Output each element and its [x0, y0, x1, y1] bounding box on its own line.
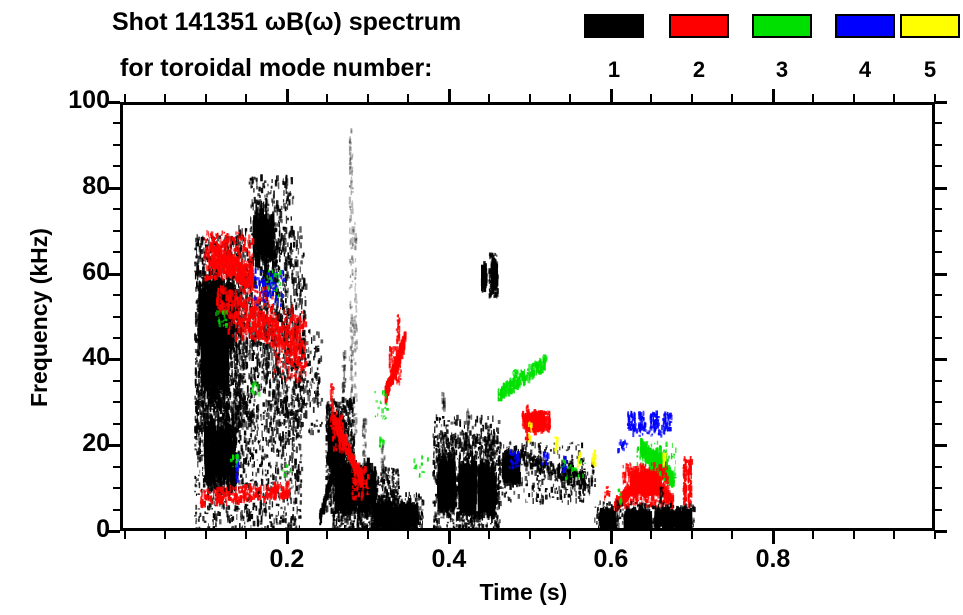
x-major-tick-0.2: [286, 531, 289, 544]
legend-swatch-1: [584, 14, 644, 38]
x-major-tick-0.4: [448, 531, 451, 544]
y-minor-tick: [113, 487, 120, 489]
x-minor-tick: [812, 531, 814, 539]
legend-label-4: 4: [835, 57, 895, 83]
legend-label-5: 5: [900, 57, 960, 83]
x-minor-tick-top: [245, 94, 247, 102]
y-minor-tick-right: [935, 230, 942, 232]
y-major-tick-right-80: [935, 187, 947, 190]
y-minor-tick-right: [935, 487, 942, 489]
y-minor-tick-right: [935, 294, 942, 296]
x-major-tick-top-0.8: [772, 89, 775, 102]
y-minor-tick-right: [935, 337, 942, 339]
y-tick-label-80: 80: [48, 172, 110, 201]
y-minor-tick-right: [935, 509, 942, 511]
x-tick-label-0.2: 0.2: [247, 545, 327, 574]
y-minor-tick: [113, 337, 120, 339]
x-minor-tick: [934, 531, 936, 539]
legend-label-2: 2: [669, 57, 729, 83]
y-tick-label-60: 60: [48, 258, 110, 287]
y-minor-tick-right: [935, 423, 942, 425]
y-minor-tick-right: [935, 165, 942, 167]
x-minor-tick: [245, 531, 247, 539]
x-minor-tick: [326, 531, 328, 539]
x-minor-tick-top: [853, 94, 855, 102]
y-minor-tick: [113, 144, 120, 146]
y-minor-tick-right: [935, 251, 942, 253]
y-minor-tick: [113, 165, 120, 167]
y-minor-tick-right: [935, 401, 942, 403]
x-minor-tick-top: [407, 94, 409, 102]
y-minor-tick-right: [935, 144, 942, 146]
x-minor-tick-top: [569, 94, 571, 102]
x-minor-tick: [893, 531, 895, 539]
y-minor-tick: [113, 251, 120, 253]
y-tick-label-0: 0: [48, 515, 110, 544]
legend-label-3: 3: [752, 57, 812, 83]
x-minor-tick: [731, 531, 733, 539]
y-minor-tick-right: [935, 122, 942, 124]
x-minor-tick-top: [934, 94, 936, 102]
x-minor-tick-top: [367, 94, 369, 102]
y-minor-tick: [113, 401, 120, 403]
y-minor-tick-right: [935, 208, 942, 210]
x-major-tick-top-0.4: [448, 89, 451, 102]
x-minor-tick-top: [326, 94, 328, 102]
x-major-tick-0.8: [772, 531, 775, 544]
x-minor-tick: [853, 531, 855, 539]
plot-area: [120, 102, 935, 531]
y-axis-title: Frequency (kHz): [26, 228, 53, 407]
y-major-tick-right-60: [935, 273, 947, 276]
x-major-tick-0.6: [610, 531, 613, 544]
legend-swatch-2: [669, 14, 729, 38]
x-minor-tick: [529, 531, 531, 539]
x-minor-tick: [205, 531, 207, 539]
y-minor-tick: [113, 230, 120, 232]
x-minor-tick-top: [893, 94, 895, 102]
y-major-tick-right-20: [935, 444, 947, 447]
x-minor-tick-top: [205, 94, 207, 102]
x-minor-tick: [407, 531, 409, 539]
x-minor-tick-top: [488, 94, 490, 102]
y-minor-tick: [113, 509, 120, 511]
y-minor-tick-right: [935, 380, 942, 382]
title-line-2: for toroidal mode number:: [120, 54, 433, 83]
x-minor-tick: [124, 531, 126, 539]
x-minor-tick-top: [529, 94, 531, 102]
x-minor-tick-top: [691, 94, 693, 102]
x-minor-tick: [164, 531, 166, 539]
x-tick-label-0.6: 0.6: [571, 545, 651, 574]
x-minor-tick: [569, 531, 571, 539]
x-minor-tick-top: [124, 94, 126, 102]
x-major-tick-top-0.2: [286, 89, 289, 102]
y-tick-label-20: 20: [48, 429, 110, 458]
y-major-tick-right-40: [935, 358, 947, 361]
y-minor-tick: [113, 208, 120, 210]
y-minor-tick: [113, 122, 120, 124]
legend-label-1: 1: [584, 57, 644, 83]
legend-swatch-5: [900, 14, 960, 38]
x-tick-label-0.8: 0.8: [733, 545, 813, 574]
y-major-tick-right-100: [935, 101, 947, 104]
y-minor-tick-right: [935, 316, 942, 318]
legend-swatch-4: [835, 14, 895, 38]
x-minor-tick: [367, 531, 369, 539]
x-minor-tick-top: [164, 94, 166, 102]
y-minor-tick: [113, 316, 120, 318]
title-line-1: Shot 141351 ωB(ω) spectrum: [112, 8, 461, 37]
y-tick-label-100: 100: [48, 86, 110, 115]
x-major-tick-top-0.6: [610, 89, 613, 102]
y-minor-tick: [113, 294, 120, 296]
x-axis-title: Time (s): [480, 579, 568, 606]
x-minor-tick: [488, 531, 490, 539]
y-minor-tick-right: [935, 466, 942, 468]
x-minor-tick-top: [731, 94, 733, 102]
y-minor-tick: [113, 466, 120, 468]
y-minor-tick: [113, 380, 120, 382]
y-minor-tick: [113, 423, 120, 425]
x-minor-tick: [650, 531, 652, 539]
spectrogram-canvas: [123, 105, 932, 528]
x-minor-tick-top: [650, 94, 652, 102]
x-minor-tick-top: [812, 94, 814, 102]
x-minor-tick: [691, 531, 693, 539]
x-tick-label-0.4: 0.4: [409, 545, 489, 574]
legend-swatch-3: [752, 14, 812, 38]
y-major-tick-right-0: [935, 530, 947, 533]
y-tick-label-40: 40: [48, 343, 110, 372]
